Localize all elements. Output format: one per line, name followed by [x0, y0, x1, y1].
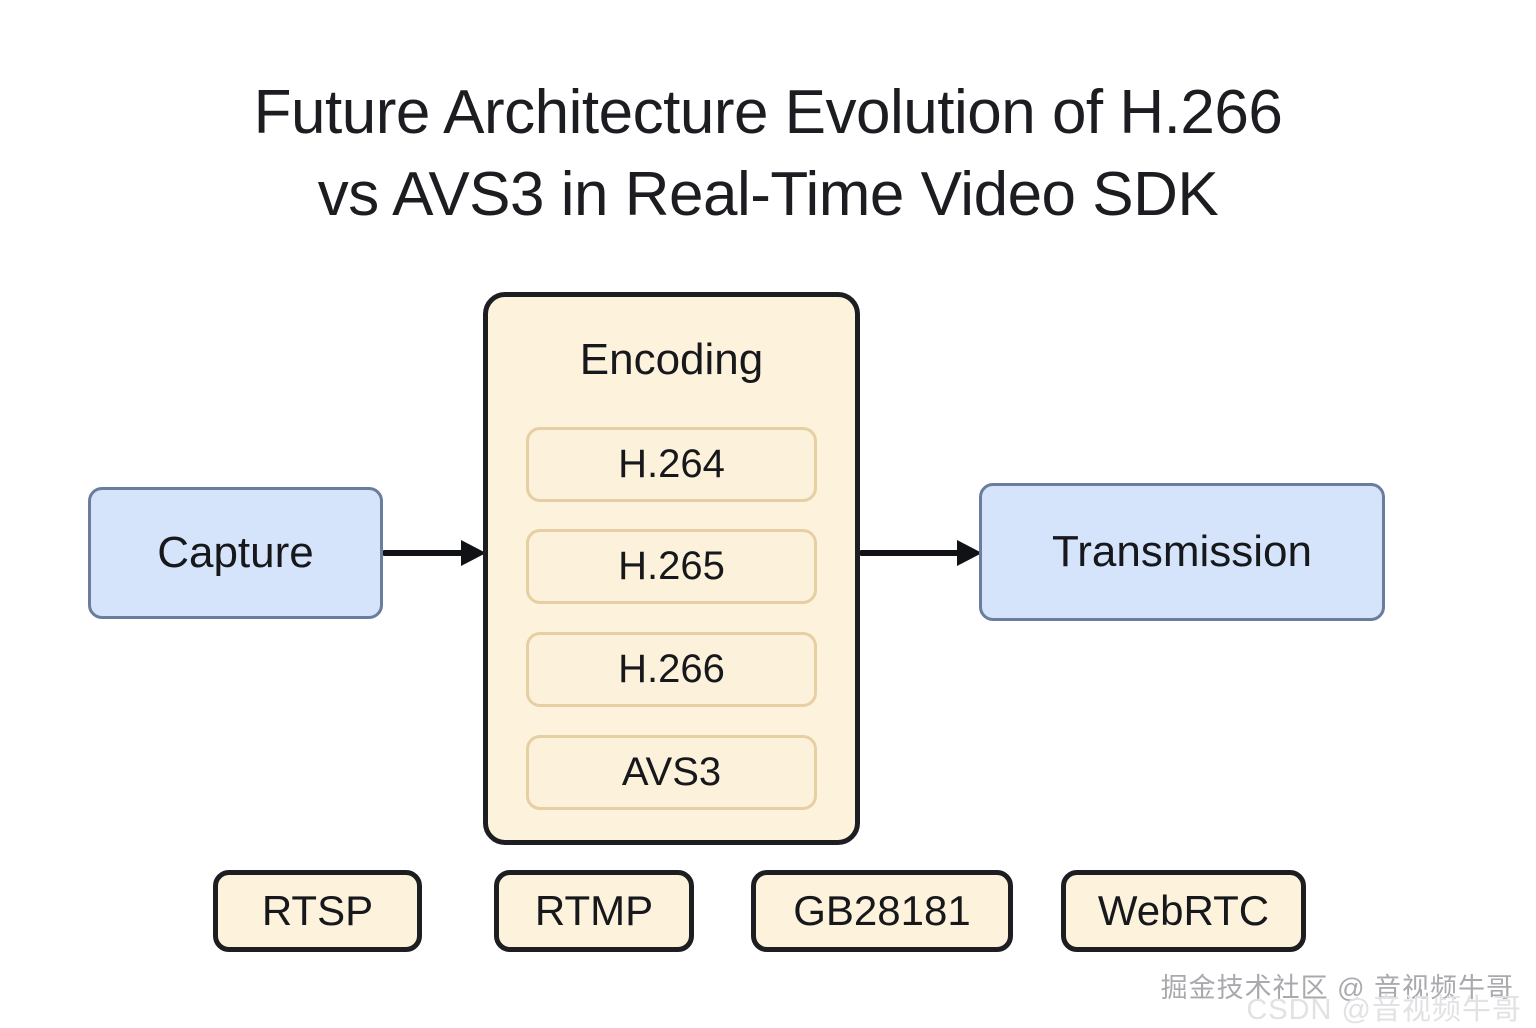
node-protocol-rtmp[interactable]: RTMP — [494, 870, 694, 952]
watermark-csdn: CSDN @音视频牛哥 — [1246, 986, 1522, 1028]
page-title: Future Architecture Evolution of H.266 v… — [0, 72, 1536, 236]
diagram-canvas: { "title": "Future Architecture Evolutio… — [0, 0, 1536, 1024]
node-codec-h264-label: H.264 — [618, 442, 725, 487]
node-codec-avs3[interactable]: AVS3 — [526, 735, 817, 810]
node-protocol-rtmp-label: RTMP — [535, 887, 653, 935]
node-transmission-label: Transmission — [1052, 527, 1312, 577]
node-codec-avs3-label: AVS3 — [622, 750, 721, 795]
node-transmission[interactable]: Transmission — [979, 483, 1385, 621]
node-codec-h264[interactable]: H.264 — [526, 427, 817, 502]
node-capture[interactable]: Capture — [88, 487, 383, 619]
node-codec-h265[interactable]: H.265 — [526, 529, 817, 604]
node-codec-h266-label: H.266 — [618, 647, 725, 692]
arrow-shaft — [860, 550, 959, 556]
node-encoding-group[interactable]: Encoding H.264 H.265 H.266 AVS3 — [483, 292, 860, 845]
node-codec-h265-label: H.265 — [618, 544, 725, 589]
arrow-capture-to-encoding — [383, 540, 486, 566]
node-protocol-gb28181[interactable]: GB28181 — [751, 870, 1013, 952]
arrow-encoding-to-transmission — [860, 540, 982, 566]
arrow-shaft — [383, 550, 463, 556]
node-codec-h266[interactable]: H.266 — [526, 632, 817, 707]
node-protocol-webrtc[interactable]: WebRTC — [1061, 870, 1306, 952]
node-protocol-rtsp[interactable]: RTSP — [213, 870, 422, 952]
node-encoding-label: Encoding — [488, 335, 855, 385]
node-protocol-rtsp-label: RTSP — [262, 887, 373, 935]
node-protocol-gb28181-label: GB28181 — [793, 887, 970, 935]
node-protocol-webrtc-label: WebRTC — [1098, 887, 1269, 935]
node-capture-label: Capture — [157, 528, 314, 578]
